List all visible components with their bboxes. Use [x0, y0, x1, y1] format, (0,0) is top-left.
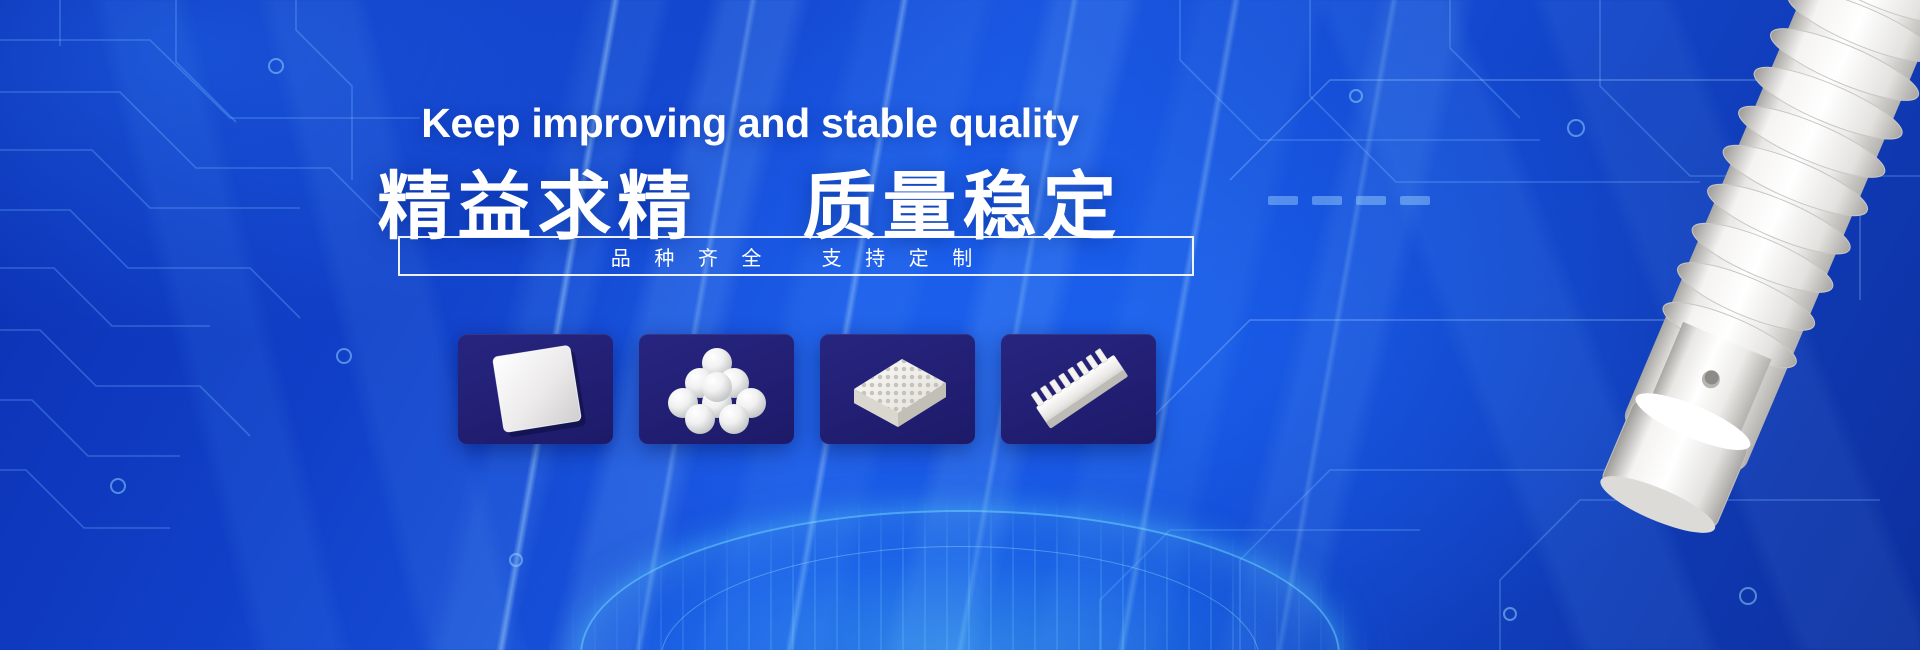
product-card-ceramic-comb[interactable]	[1001, 334, 1156, 444]
ceramic-comb-strip-icon	[1019, 340, 1139, 438]
product-card-list	[458, 334, 1156, 444]
headline-english-bold: Keep improving	[421, 100, 727, 146]
ceramic-square-plate-icon	[476, 340, 596, 438]
product-card-ceramic-balls[interactable]	[639, 334, 794, 444]
product-card-honeycomb-ceramic[interactable]	[820, 334, 975, 444]
headline-english-light: and stable quality	[738, 100, 1079, 146]
subtitle-text-right: 支 持 定 制	[822, 248, 982, 270]
headline-english: Keep improving and stable quality	[0, 100, 1500, 147]
promo-banner: Keep improving and stable quality 精益求精 质…	[0, 0, 1920, 650]
ceramic-ball-stack-icon	[656, 341, 778, 437]
subtitle-text-left: 品 种 齐 全	[611, 248, 771, 270]
subtitle-bordered-box: 品 种 齐 全 支 持 定 制	[398, 236, 1194, 276]
honeycomb-block-icon	[836, 341, 960, 437]
subtitle-text: 品 种 齐 全 支 持 定 制	[611, 242, 981, 271]
ribbed-ceramic-hose-image	[1520, 0, 1920, 650]
product-card-ceramic-plate[interactable]	[458, 334, 613, 444]
